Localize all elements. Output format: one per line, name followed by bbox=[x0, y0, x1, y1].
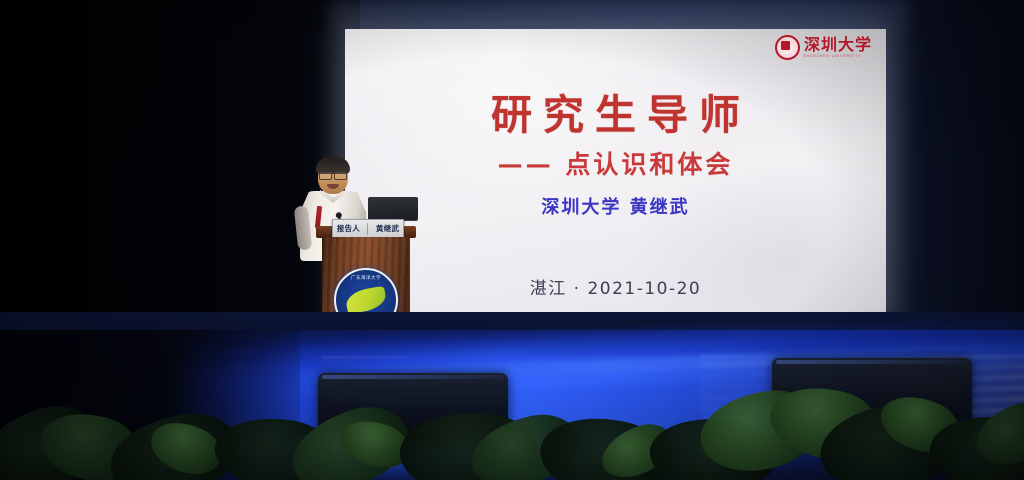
stage-left-shadow bbox=[0, 330, 300, 480]
logo-name-cn: 深圳大学 bbox=[804, 37, 872, 53]
university-seal-icon bbox=[775, 35, 800, 60]
slide-subtitle: —— 点认识和体会 bbox=[345, 145, 886, 181]
slide-author: 深圳大学 黄继武 bbox=[345, 193, 886, 219]
stage-monitor-center bbox=[318, 373, 508, 445]
glasses-lens-left bbox=[319, 172, 332, 180]
glasses-icon bbox=[319, 172, 347, 178]
slide-date: 湛江 · 2021-10-20 bbox=[345, 274, 886, 299]
logo-name-en: SHENZHEN UNIVERSITY bbox=[803, 55, 872, 58]
slide-title: 研究生导师 bbox=[345, 81, 886, 141]
university-logo-text: 深圳大学 SHENZHEN UNIVERSITY bbox=[804, 37, 872, 58]
stage-monitor-right bbox=[772, 358, 972, 448]
projection-screen: 深圳大学 SHENZHEN UNIVERSITY 研究生导师 —— 点认识和体会… bbox=[345, 29, 886, 314]
slide-content: 深圳大学 SHENZHEN UNIVERSITY 研究生导师 —— 点认识和体会… bbox=[345, 29, 886, 314]
university-logo: 深圳大学 SHENZHEN UNIVERSITY bbox=[775, 35, 872, 60]
lecture-stage-scene: 深圳大学 SHENZHEN UNIVERSITY 研究生导师 —— 点认识和体会… bbox=[0, 0, 1024, 480]
